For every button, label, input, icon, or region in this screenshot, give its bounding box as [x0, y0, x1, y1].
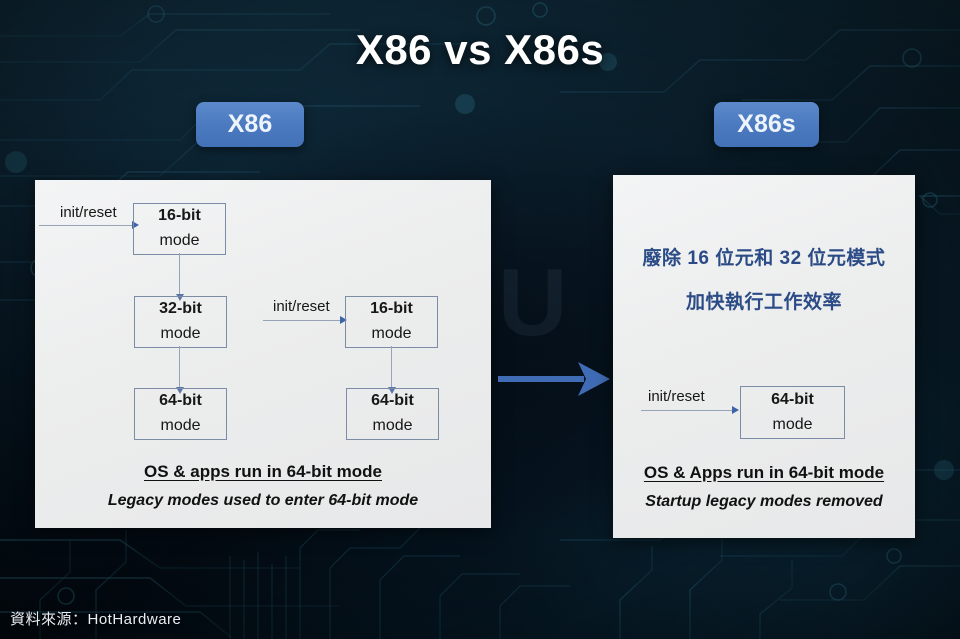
mode-box-subtitle: mode [772, 413, 812, 438]
mode-box-title: 32-bit [159, 297, 202, 322]
connector-16-to-64-right [391, 346, 392, 388]
caption-primary-left: OS & apps run in 64-bit mode [35, 462, 491, 482]
mode-box-title: 16-bit [158, 204, 201, 229]
transition-arrow-icon [496, 358, 612, 400]
mode-box-title: 64-bit [371, 389, 414, 414]
mode-box-title: 16-bit [370, 297, 413, 322]
init-reset-label: init/reset [648, 388, 705, 405]
init-reset-arrow-left [39, 225, 133, 226]
mode-box-subtitle: mode [159, 229, 199, 254]
connector-32-to-64-left [179, 346, 180, 388]
mode-box-title: 64-bit [771, 388, 814, 413]
caption-secondary-left: Legacy modes used to enter 64-bit mode [35, 492, 491, 510]
mode-box-title: 64-bit [159, 389, 202, 414]
mode-box-16bit-left: 16-bit mode [133, 203, 226, 255]
source-credit: 資料來源：HotHardware [10, 608, 181, 629]
init-reset-arrow [641, 410, 733, 411]
page-title: X86 vs X86s [0, 26, 960, 74]
init-reset-label-left: init/reset [60, 204, 117, 221]
mode-box-subtitle: mode [160, 414, 200, 439]
mode-box-16bit-right: 16-bit mode [345, 296, 438, 348]
summary-line-1: 廢除 16 位元和 32 位元模式 [613, 243, 915, 270]
diagram-panel-x86s: 廢除 16 位元和 32 位元模式 加快執行工作效率 init/reset 64… [613, 175, 915, 538]
slide-root: PU X86 vs X86s X86 X86s init/reset 16-bi… [0, 0, 960, 639]
mode-box-subtitle: mode [372, 414, 412, 439]
label-pill-x86s: X86s [714, 102, 819, 147]
mode-box-subtitle: mode [160, 322, 200, 347]
diagram-panel-x86: init/reset 16-bit mode 32-bit mode 64-bi… [35, 180, 491, 528]
caption-primary-right: OS & Apps run in 64-bit mode [613, 463, 915, 483]
mode-box-64bit-right: 64-bit mode [346, 388, 439, 440]
caption-secondary-right: Startup legacy modes removed [613, 493, 915, 511]
init-reset-label-right: init/reset [273, 298, 330, 315]
mode-box-64bit-left: 64-bit mode [134, 388, 227, 440]
mode-box-32bit-left: 32-bit mode [134, 296, 227, 348]
connector-16-to-32-left [179, 253, 180, 295]
summary-line-2: 加快執行工作效率 [613, 287, 915, 314]
mode-box-64bit: 64-bit mode [740, 386, 845, 439]
mode-box-subtitle: mode [371, 322, 411, 347]
init-reset-arrow-right [263, 320, 341, 321]
label-pill-x86: X86 [196, 102, 304, 147]
